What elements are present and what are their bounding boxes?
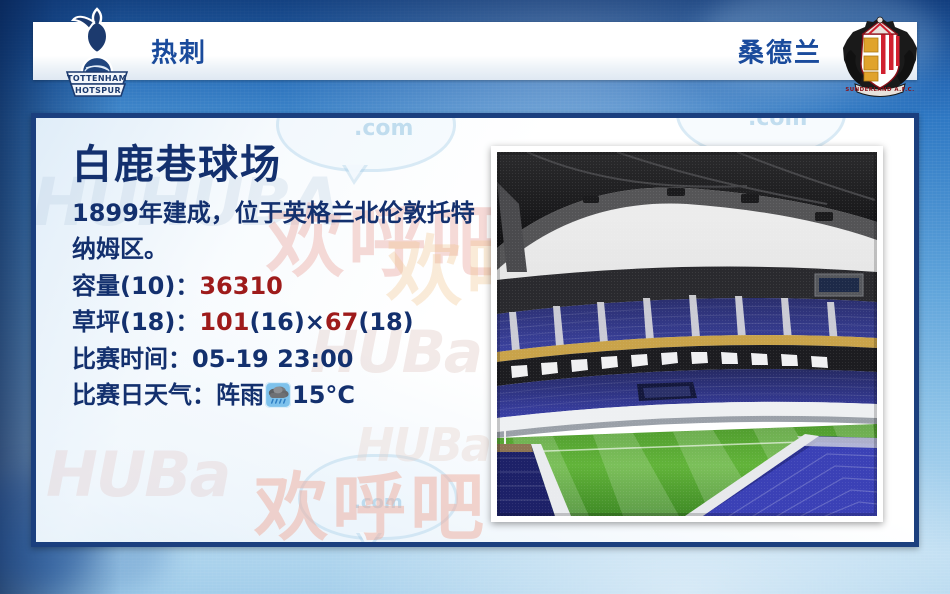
pitch-length-value: 101 — [199, 308, 249, 336]
pitch-width-rank: (18) — [358, 308, 413, 336]
watermark-speech-bubble-3 — [298, 454, 458, 540]
watermark-huhuba-cn-2: 欢呼吧 — [254, 448, 488, 547]
capacity-label: 容量(10)： — [72, 272, 199, 300]
pitch-width-value: 67 — [325, 308, 358, 336]
watermark-com-text-1: .com — [354, 116, 413, 141]
tottenham-hotspur-crest: TOTTENHAM HOTSPUR — [61, 6, 133, 98]
pitch-label: 草坪(18)： — [72, 308, 199, 336]
pitch-length-rank: (16) — [249, 308, 304, 336]
svg-text:HOTSPUR: HOTSPUR — [75, 86, 121, 95]
match-time-value: 05-19 23:00 — [192, 345, 354, 373]
white-hart-lane-stadium-photo — [497, 152, 877, 516]
capacity-row: 容量(10)：36310 — [72, 268, 492, 304]
svg-text:TOTTENHAM: TOTTENHAM — [67, 74, 127, 83]
pitch-row: 草坪(18)：101(16)×67(18) — [72, 304, 492, 340]
weather-label: 比赛日天气： — [72, 381, 216, 409]
watermark-huhuba-latin-4: HUBa — [356, 418, 490, 472]
watermark-com-text-3: .com — [354, 492, 403, 513]
watermark-com-text-2: .com — [748, 113, 807, 131]
match-header-bar: TOTTENHAM HOTSPUR 热刺 桑德兰 — [33, 22, 917, 80]
watermark-huhuba-latin-3: HUBa — [46, 438, 229, 511]
capacity-value: 36310 — [199, 272, 283, 300]
sunderland-afc-crest: SUNDERLAND A.F.C. — [837, 14, 923, 100]
pitch-times-symbol: × — [305, 308, 325, 336]
away-team-name: 桑德兰 — [738, 33, 822, 70]
stadium-photo-frame — [491, 146, 883, 522]
shower-rain-icon — [265, 382, 291, 408]
stadium-title: 白鹿巷球场 — [72, 143, 492, 187]
weather-text: 阵雨 — [216, 381, 264, 409]
svg-text:SUNDERLAND A.F.C.: SUNDERLAND A.F.C. — [845, 87, 914, 93]
stadium-info-text-block: 白鹿巷球场 1899年建成，位于英格兰北伦敦托特纳姆区。 容量(10)：3631… — [72, 143, 492, 414]
stadium-info-panel: .com .com .com HUHUBA HUBa HUBa HUBa 欢呼吧… — [31, 113, 919, 547]
weather-temperature: 15°C — [292, 381, 355, 409]
weather-row: 比赛日天气：阵雨 15°C — [72, 377, 492, 413]
watermark-bubble-tail-3 — [356, 533, 382, 547]
match-time-label: 比赛时间： — [72, 345, 192, 373]
match-time-row: 比赛时间：05-19 23:00 — [72, 341, 492, 377]
home-team-name: 热刺 — [151, 33, 207, 70]
stadium-description: 1899年建成，位于英格兰北伦敦托特纳姆区。 — [72, 195, 482, 268]
